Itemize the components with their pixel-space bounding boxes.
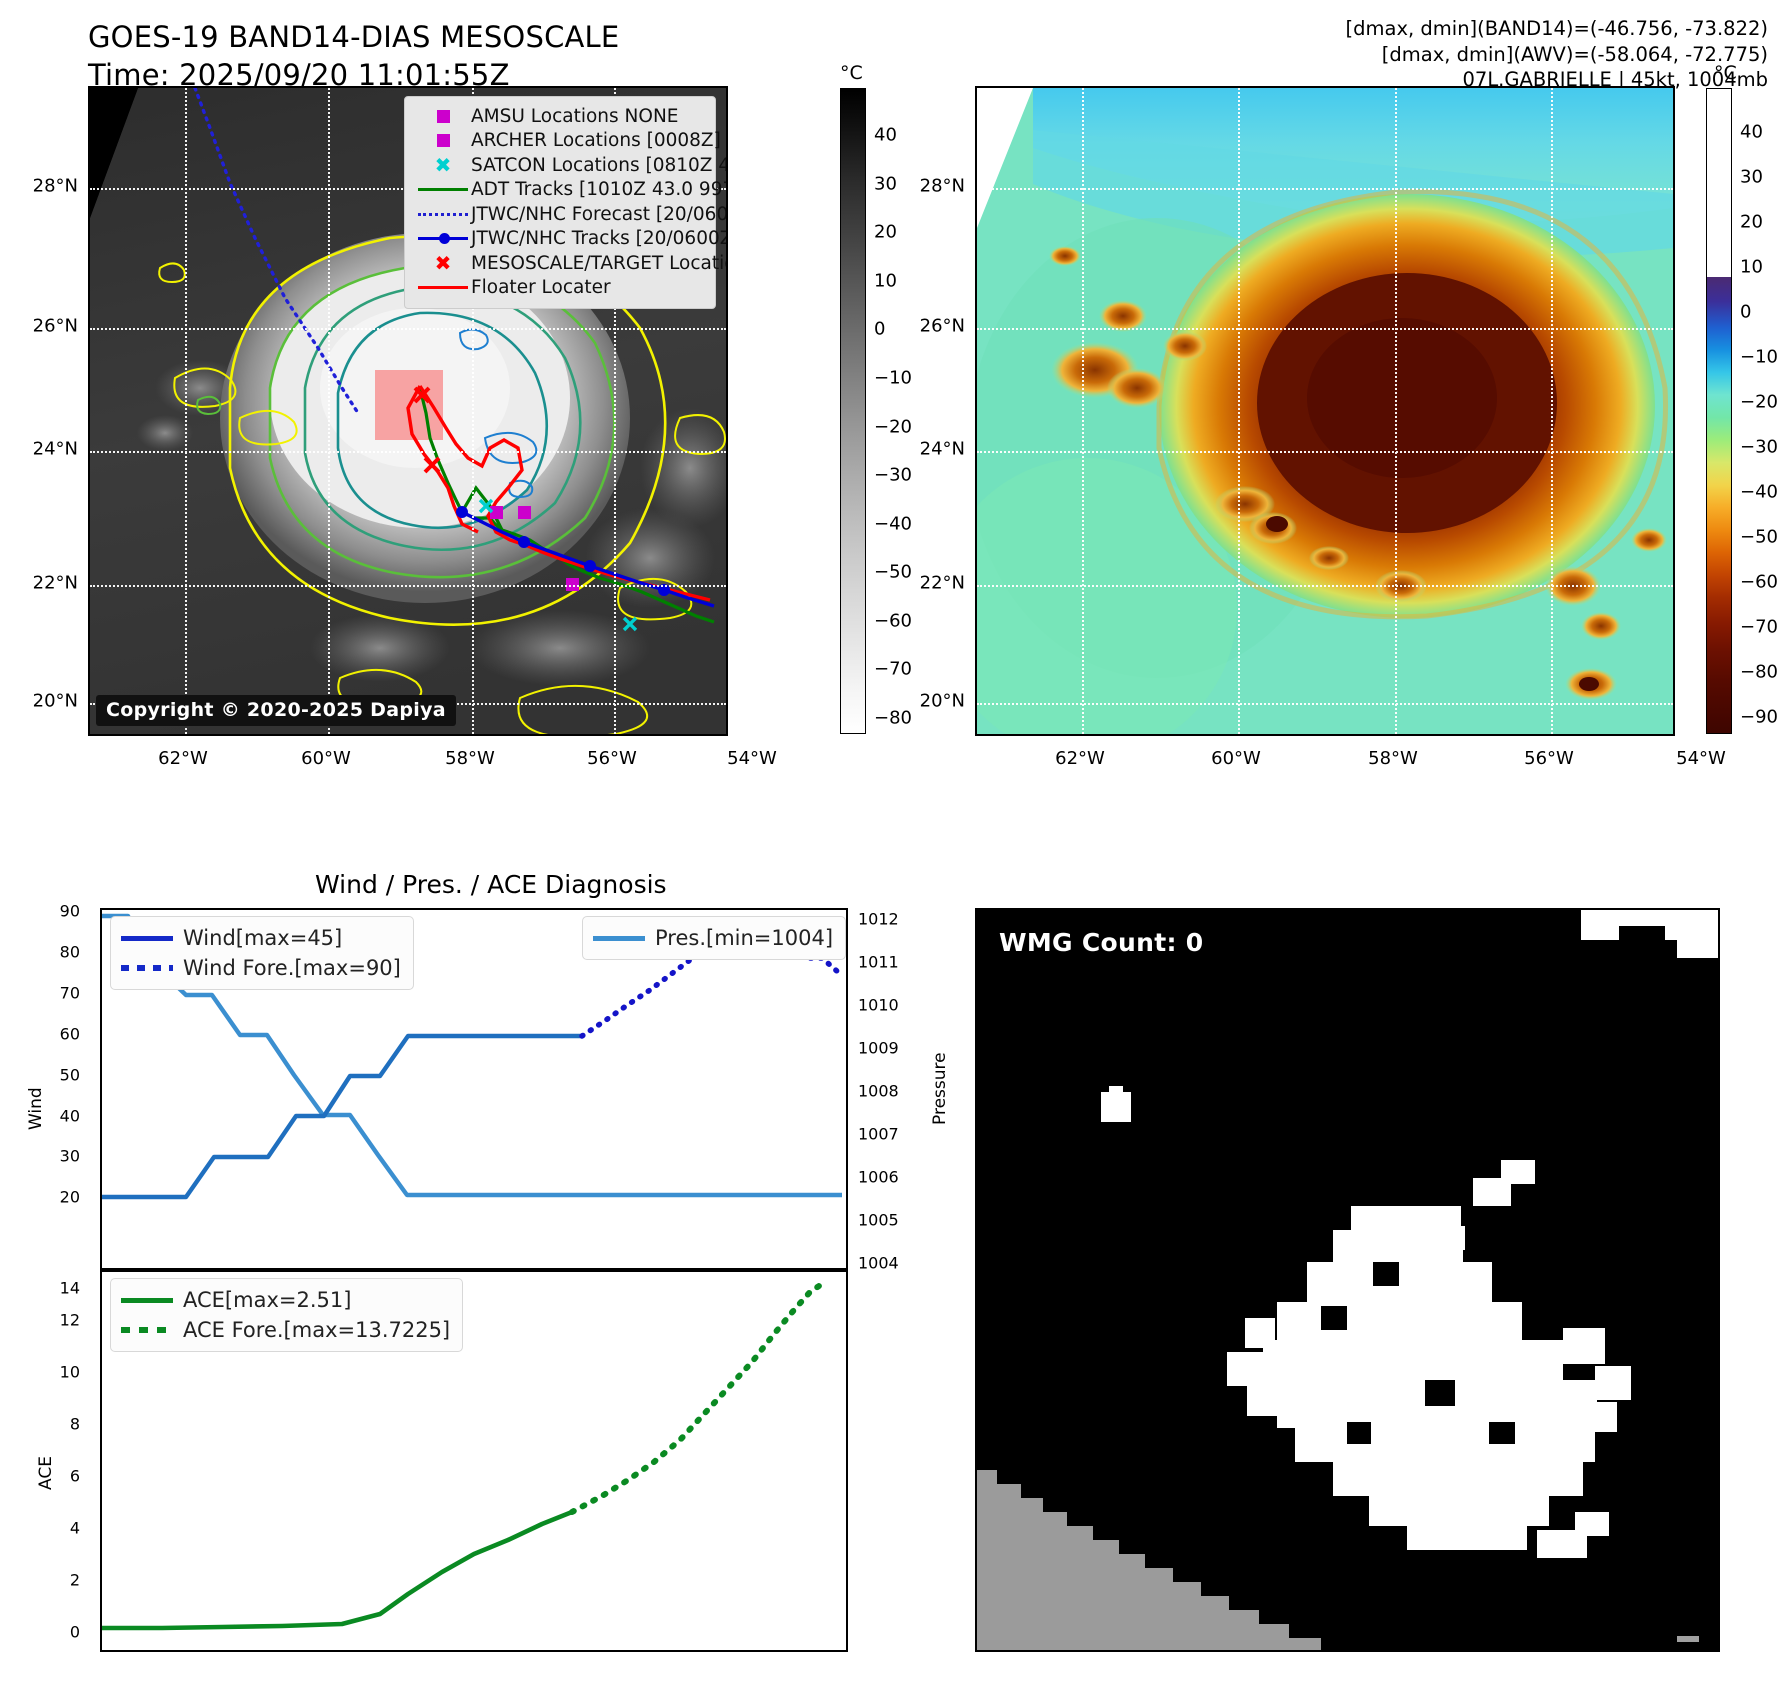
left-map-gridline (185, 88, 187, 734)
legend-label: JTWC/NHC Forecast [20/0600Z] (471, 204, 728, 225)
right-colorbar (1706, 88, 1732, 734)
legend-item: JTWC/NHC Forecast [20/0600Z] (415, 202, 705, 227)
legend-item: ✖ MESOSCALE/TARGET Location (415, 251, 705, 276)
pressure-y-tick: 1012 (858, 910, 918, 929)
wind-y-tick: 40 (30, 1107, 80, 1126)
left-map-lon-tick: 62°W (158, 748, 208, 769)
map-legend: AMSU Locations NONE ARCHER Locations [00… (404, 96, 716, 309)
solid-line-icon (415, 178, 471, 203)
left-colorbar-tick: 20 (874, 222, 897, 243)
right-map-gridline (1082, 88, 1084, 734)
left-colorbar-tick: −60 (874, 611, 912, 632)
legend-label: Pres.[min=1004] (655, 926, 833, 950)
wind-y-tick: 30 (30, 1147, 80, 1166)
legend-item: JTWC/NHC Tracks [20/0600Z] (415, 227, 705, 252)
wind-y-tick: 70 (30, 984, 80, 1003)
solid-line-icon (121, 936, 183, 941)
wmg-mask-imagery (977, 910, 1718, 1650)
left-map-lon-tick: 54°W (727, 748, 777, 769)
right-map-lat-tick: 24°N (897, 439, 965, 460)
ace-forecast-series (572, 1284, 822, 1512)
square-marker-icon (415, 104, 471, 129)
wind-y-tick: 90 (30, 902, 80, 921)
ace-series (102, 1512, 572, 1628)
right-map-lon-tick: 62°W (1055, 748, 1105, 769)
right-colorbar-tick: −30 (1740, 437, 1778, 458)
legend-item: Wind[max=45] (121, 923, 401, 953)
wind-pressure-chart[interactable]: Wind[max=45] Wind Fore.[max=90] Pres.[mi… (100, 908, 848, 1270)
dotted-line-icon (121, 965, 183, 971)
left-map-lat-tick: 20°N (10, 691, 78, 712)
left-map-lat-tick: 26°N (10, 316, 78, 337)
right-colorbar-tick: 20 (1740, 212, 1763, 233)
left-map-lon-tick: 56°W (587, 748, 637, 769)
pressure-y-tick: 1006 (858, 1168, 918, 1187)
legend-label: AMSU Locations NONE (471, 106, 678, 127)
wind-chart-legend-right: Pres.[min=1004] (582, 916, 846, 960)
ace-y-tick: 4 (30, 1519, 80, 1538)
wind-y-tick: 80 (30, 943, 80, 962)
right-map-lon-tick: 60°W (1211, 748, 1261, 769)
line-with-dot-icon (415, 227, 471, 252)
legend-item: AMSU Locations NONE (415, 104, 705, 129)
ace-y-tick: 6 (30, 1467, 80, 1486)
awv-range-readout: [dmax, dmin](AWV)=(-58.064, -72.775) (1346, 42, 1768, 68)
right-colorbar-tick: −20 (1740, 392, 1778, 413)
left-map-lat-tick: 22°N (10, 573, 78, 594)
wind-y-tick: 20 (30, 1188, 80, 1207)
wmg-count-label: WMG Count: 0 (999, 928, 1203, 957)
left-colorbar-tick: 40 (874, 125, 897, 146)
left-map-lat-tick: 28°N (10, 176, 78, 197)
ace-chart-legend: ACE[max=2.51] ACE Fore.[max=13.7225] (110, 1278, 463, 1352)
right-colorbar-tick: −70 (1740, 617, 1778, 638)
left-colorbar-tick: −30 (874, 465, 912, 486)
pressure-y-tick: 1010 (858, 996, 918, 1015)
pressure-y-tick: 1004 (858, 1254, 918, 1273)
x-marker-icon: ✖ (415, 251, 471, 276)
ace-y-tick: 8 (30, 1415, 80, 1434)
right-map-lat-tick: 28°N (897, 176, 965, 197)
ace-y-tick: 2 (30, 1571, 80, 1590)
legend-label: SATCON Locations [0810Z 46 999] (471, 155, 728, 176)
left-colorbar-tick: −20 (874, 417, 912, 438)
page-title-block: GOES-19 BAND14-DIAS MESOSCALE Time: 2025… (88, 18, 888, 94)
right-map-lat-tick: 22°N (897, 573, 965, 594)
legend-label: ACE Fore.[max=13.7225] (183, 1318, 450, 1342)
ace-y-tick: 10 (26, 1363, 80, 1382)
right-colorbar-tick: 30 (1740, 167, 1763, 188)
pressure-y-tick: 1009 (858, 1039, 918, 1058)
legend-label: ARCHER Locations [0008Z] (471, 130, 721, 151)
right-map-lon-tick: 54°W (1676, 748, 1726, 769)
left-colorbar-tick: −40 (874, 514, 912, 535)
wind-y-tick: 60 (30, 1025, 80, 1044)
legend-item: Pres.[min=1004] (593, 923, 833, 953)
legend-item: ADT Tracks [1010Z 43.0 997.2] (415, 178, 705, 203)
left-map-lon-tick: 58°W (445, 748, 495, 769)
legend-item: Wind Fore.[max=90] (121, 953, 401, 983)
left-colorbar-unit: °C (840, 62, 863, 84)
left-colorbar-tick: 30 (874, 174, 897, 195)
pressure-y-tick: 1008 (858, 1082, 918, 1101)
left-map-lat-tick: 24°N (10, 439, 78, 460)
right-colorbar-tick: 0 (1740, 302, 1751, 323)
wind-y-tick: 50 (30, 1066, 80, 1085)
left-map-lon-tick: 60°W (301, 748, 351, 769)
x-marker-icon: ✖ (415, 153, 471, 178)
right-colorbar-tick: −90 (1740, 707, 1778, 728)
solid-line-icon (121, 1298, 183, 1303)
right-satellite-map[interactable] (975, 86, 1675, 736)
ace-chart[interactable]: ACE[max=2.51] ACE Fore.[max=13.7225] (100, 1270, 848, 1652)
pressure-y-tick: 1007 (858, 1125, 918, 1144)
right-map-gridline (1395, 88, 1397, 734)
dotted-line-icon (415, 202, 471, 227)
pressure-y-tick: 1011 (858, 953, 918, 972)
legend-item: ACE[max=2.51] (121, 1285, 450, 1315)
legend-label: Wind[max=45] (183, 926, 342, 950)
solid-line-icon (415, 276, 471, 301)
right-map-lat-tick: 26°N (897, 316, 965, 337)
legend-label: ACE[max=2.51] (183, 1288, 351, 1312)
right-colorbar-tick: −80 (1740, 662, 1778, 683)
ace-y-tick: 14 (26, 1279, 80, 1298)
left-colorbar-tick: −70 (874, 659, 912, 680)
right-colorbar-tick: −10 (1740, 347, 1778, 368)
header-readout-block: [dmax, dmin](BAND14)=(-46.756, -73.822) … (1346, 16, 1768, 93)
right-colorbar-tick: −50 (1740, 527, 1778, 548)
wind-chart-legend-left: Wind[max=45] Wind Fore.[max=90] (110, 916, 414, 990)
left-colorbar-tick: −10 (874, 368, 912, 389)
right-map-gridline (1551, 88, 1553, 734)
right-map-lon-tick: 58°W (1368, 748, 1418, 769)
right-colorbar-tick: −60 (1740, 572, 1778, 593)
right-colorbar-unit: °C (1714, 62, 1737, 84)
band14-range-readout: [dmax, dmin](BAND14)=(-46.756, -73.822) (1346, 16, 1768, 42)
right-map-gridline (1238, 88, 1240, 734)
legend-label: Floater Locater (471, 277, 611, 298)
right-colorbar-tick: 40 (1740, 122, 1763, 143)
right-map-lat-tick: 20°N (897, 691, 965, 712)
left-colorbar (840, 88, 866, 734)
legend-item: Floater Locater (415, 276, 705, 301)
page-title: GOES-19 BAND14-DIAS MESOSCALE (88, 18, 888, 56)
wmg-mask-panel[interactable]: WMG Count: 0 (975, 908, 1720, 1652)
legend-item: ACE Fore.[max=13.7225] (121, 1315, 450, 1345)
ace-y-tick: 12 (26, 1311, 80, 1330)
copyright-badge: Copyright © 2020-2025 Dapiya (96, 695, 456, 726)
diagnosis-panel-title: Wind / Pres. / ACE Diagnosis (315, 870, 667, 899)
right-map-lon-tick: 56°W (1524, 748, 1574, 769)
left-colorbar-tick: 10 (874, 271, 897, 292)
left-map-gridline (328, 88, 330, 734)
legend-label: MESOSCALE/TARGET Location (471, 253, 728, 274)
ace-y-tick: 0 (30, 1623, 80, 1642)
right-colorbar-tick: −40 (1740, 482, 1778, 503)
left-satellite-map[interactable]: AMSU Locations NONE ARCHER Locations [00… (88, 86, 728, 736)
square-marker-icon (415, 129, 471, 154)
legend-item: ARCHER Locations [0008Z] (415, 129, 705, 154)
solid-line-icon (593, 936, 655, 941)
legend-label: ADT Tracks [1010Z 43.0 997.2] (471, 179, 728, 200)
legend-item: ✖ SATCON Locations [0810Z 46 999] (415, 153, 705, 178)
dotted-line-icon (121, 1327, 183, 1333)
pressure-axis-label: Pressure (930, 1052, 950, 1125)
left-colorbar-tick: 0 (874, 319, 885, 340)
pressure-y-tick: 1005 (858, 1211, 918, 1230)
legend-label: JTWC/NHC Tracks [20/0600Z] (471, 228, 728, 249)
right-colorbar-tick: 10 (1740, 257, 1763, 278)
legend-label: Wind Fore.[max=90] (183, 956, 401, 980)
